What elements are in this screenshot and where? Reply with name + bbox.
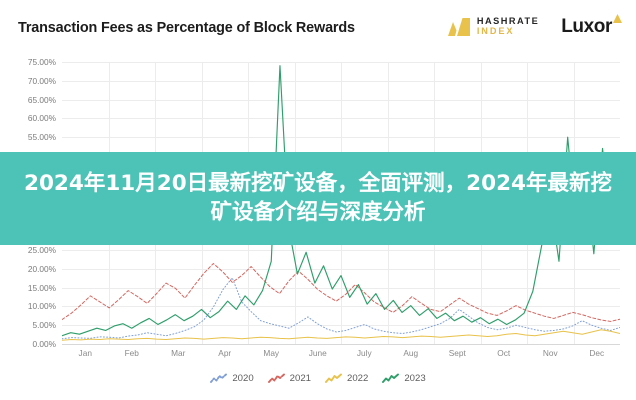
x-tick-label: July [357,348,372,358]
y-tick-label: 0.00% [32,339,56,349]
x-tick-label: June [309,348,327,358]
legend-label: 2023 [404,373,425,384]
luxor-triangle-icon [612,17,622,23]
series-line-2022 [62,330,620,341]
x-axis-line [62,344,620,345]
chart-page: Transaction Fees as Percentage of Block … [0,0,636,400]
y-tick-label: 10.00% [28,301,56,311]
y-tick-label: 75.00% [28,57,56,67]
y-tick-label: 55.00% [28,132,56,142]
luxor-logo: Luxor [561,17,622,36]
hashrate-index-wordmark: HASHRATE INDEX [477,17,539,36]
hashrate-index-mark-icon [448,17,470,36]
legend-item-2020[interactable]: 2020 [210,373,253,384]
legend-label: 2022 [347,373,368,384]
legend-marker-icon [382,373,399,384]
y-tick-label: 65.00% [28,95,56,105]
hashrate-index-line2: INDEX [477,27,539,37]
x-tick-label: Oct [497,348,510,358]
legend-marker-icon [325,373,342,384]
x-tick-label: Feb [125,348,139,358]
legend-label: 2021 [290,373,311,384]
y-tick-label: 20.00% [28,264,56,274]
brand-logos: HASHRATE INDEX Luxor [448,17,622,36]
legend-item-2021[interactable]: 2021 [268,373,311,384]
y-tick-label: 70.00% [28,76,56,86]
page-title: Transaction Fees as Percentage of Block … [18,20,355,36]
chart-header: Transaction Fees as Percentage of Block … [0,0,636,52]
hashrate-index-logo: HASHRATE INDEX [448,17,539,36]
legend-marker-icon [210,373,227,384]
chart-legend: 2020202120222023 [0,368,636,388]
x-tick-label: Jan [79,348,92,358]
series-line-2020 [62,278,620,339]
x-tick-label: Sept [449,348,466,358]
legend-marker-icon [268,373,285,384]
legend-item-2023[interactable]: 2023 [382,373,425,384]
x-tick-label: May [263,348,279,358]
y-tick-label: 5.00% [32,320,56,330]
y-tick-label: 15.00% [28,283,56,293]
overlay-headline: 2024年11月20日最新挖矿设备，全面评测，2024年最新挖矿设备介绍与深度分… [18,170,618,227]
x-tick-label: Nov [543,348,558,358]
legend-item-2022[interactable]: 2022 [325,373,368,384]
y-tick-label: 25.00% [28,245,56,255]
y-tick-label: 60.00% [28,113,56,123]
x-tick-label: Apr [218,348,231,358]
luxor-wordmark: Luxor [561,17,612,36]
x-tick-label: Dec [589,348,604,358]
x-axis-labels: JanFebMarAprMayJuneJulyAugSeptOctNovDec [62,348,620,364]
x-tick-label: Aug [403,348,418,358]
x-tick-label: Mar [171,348,185,358]
legend-label: 2020 [232,373,253,384]
article-title-overlay: 2024年11月20日最新挖矿设备，全面评测，2024年最新挖矿设备介绍与深度分… [0,152,636,245]
